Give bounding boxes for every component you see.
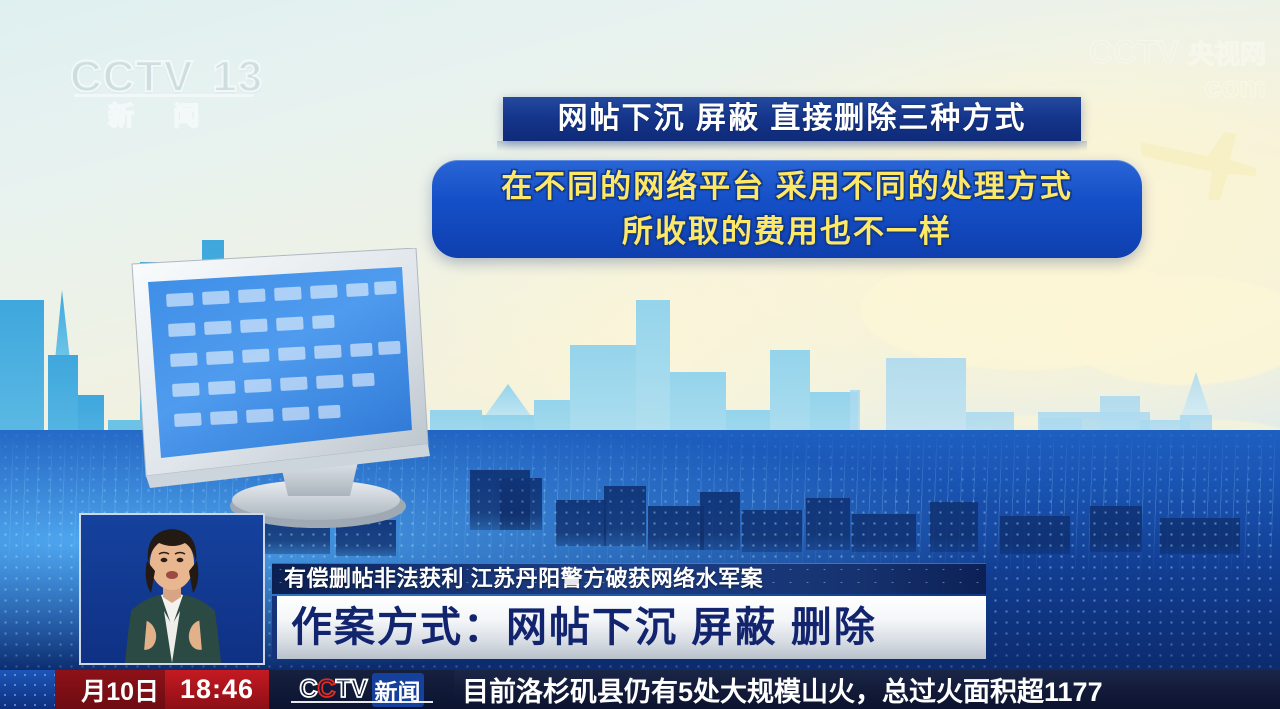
ticker-news-text-container: 目前洛杉矶县仍有5处大规模山火，总过火面积超1177 [454,670,1280,709]
top-banner-shadow [497,141,1087,151]
lower-third-subtitle-bar: 作案方式：网帖下沉 屏蔽 删除 [272,596,986,659]
ticker-logo-tv: TV [336,675,368,704]
news-ticker: 月10日 18:46 C C TV 新闻 目前洛杉矶县仍有5处大规模山火，总过火… [0,670,1280,709]
ticker-logo-c1: C [299,675,317,704]
sign-language-interpreter-inset [79,513,265,665]
lower-third-subtitle: 作案方式：网帖下沉 屏蔽 删除 [277,596,986,659]
watermark-com: com [1089,71,1266,105]
broadcast-screen: CCTV 13 新 闻 CCTV 央视网 com 网帖下沉 屏蔽 直接删除三种方… [0,0,1280,709]
watermark-cn: 央视网 [1188,34,1266,71]
quote-banner-line1: 在不同的网络平台 采用不同的处理方式 [501,164,1073,209]
ticker-cctv-news-logo: C C TV 新闻 [269,670,454,709]
lower-third-star-texture [272,563,986,593]
quote-banner: 在不同的网络平台 采用不同的处理方式 所收取的费用也不一样 [432,160,1142,258]
ticker-logo-c2: C [318,675,336,704]
ticker-date: 月10日 [55,670,165,709]
cctv-com-watermark: CCTV 央视网 com [1089,34,1266,105]
top-banner-text: 网帖下沉 屏蔽 直接删除三种方式 [503,97,1081,141]
cctv13-logo: CCTV 13 新 闻 [70,52,280,138]
ticker-date-text: 月10日 [81,672,159,708]
ticker-news-text: 目前洛杉矶县仍有5处大规模山火，总过火面积超1177 [462,670,1103,709]
ticker-time-text: 18:46 [180,674,254,705]
quote-banner-line2: 所收取的费用也不一样 [622,209,952,254]
ticker-mesh-block [0,670,55,709]
computer-monitor-graphic [128,248,438,530]
top-banner: 网帖下沉 屏蔽 直接删除三种方式 [503,97,1081,141]
ticker-time: 18:46 [165,670,269,709]
ticker-logo-underline [291,701,433,703]
watermark-cctv: CCTV [1089,34,1180,71]
cctv13-logo-sub: 新 闻 [108,96,215,133]
